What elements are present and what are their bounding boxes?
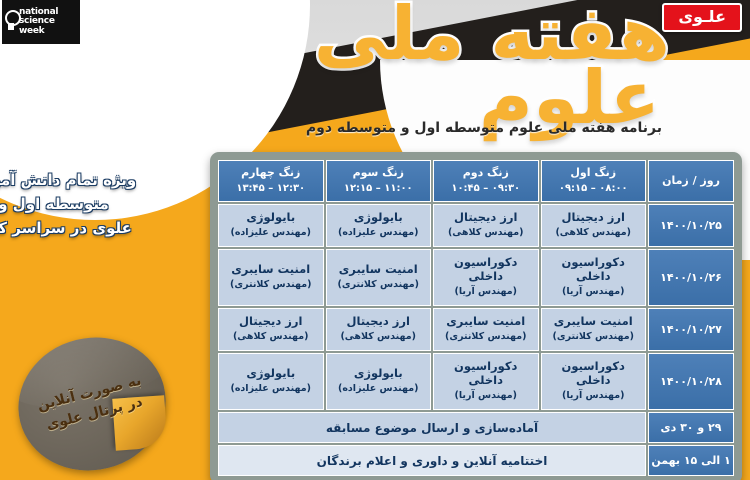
logo-line-2: science [19,16,55,26]
session-cell: بایولوژی (مهندس علیزاده) [326,353,432,410]
session-cell: ارز دیجیتال (مهندس کلاهی) [541,204,647,247]
session-cell: امنیت سایبری (مهندس کلانتری) [541,308,647,351]
lightbulb-icon [4,7,19,37]
table-header-row: روز / زمان زنگ اول ۰۸:۰۰ – ۰۹:۱۵ زنگ دوم… [218,160,734,202]
session-cell: دکوراسیون داخلی (مهندس آریا) [433,249,539,306]
session-cell: امنیت سایبری (مهندس کلانتری) [218,249,324,306]
table-row: ۱۴۰۰/۱۰/۲۸ دکوراسیون داخلی (مهندس آریا) … [218,353,734,410]
footer-row-text: اختتامیه آنلاین و داوری و اعلام برندگان [218,445,646,476]
schedule-table: روز / زمان زنگ اول ۰۸:۰۰ – ۰۹:۱۵ زنگ دوم… [216,158,736,478]
poster-canvas: national science week علـوی هفته ملی علو… [0,0,750,480]
audience-line-1: ویژه تمام دانش آموزان [0,168,165,192]
row-date: ۱۴۰۰/۱۰/۲۵ [648,204,734,247]
header-period-4: زنگ چهارم ۱۲:۳۰ – ۱۳:۴۵ [218,160,324,202]
session-cell: دکوراسیون داخلی (مهندس آریا) [433,353,539,410]
header-period-3: زنگ سوم ۱۱:۰۰ – ۱۲:۱۵ [326,160,432,202]
audience-line-3: علوی در سراسر کشور [0,216,165,240]
footer-row-date: ۱ الی ۱۵ بهمن [648,445,734,476]
schedule-panel: روز / زمان زنگ اول ۰۸:۰۰ – ۰۹:۱۵ زنگ دوم… [210,152,742,480]
session-cell: بایولوژی (مهندس علیزاده) [218,353,324,410]
national-science-week-logo: national science week [2,0,80,44]
logo-line-3: week [19,26,44,36]
audience-line-2: متوسطه اول و دوم [0,192,165,216]
logo-wordmark: national science week [19,8,58,37]
subtitle: برنامه هفته ملی علوم متوسطه اول و متوسطه… [306,120,662,136]
header-day-time: روز / زمان [648,160,734,202]
session-cell: امنیت سایبری (مهندس کلانتری) [326,249,432,306]
session-cell: دکوراسیون داخلی (مهندس آریا) [541,249,647,306]
row-date: ۱۴۰۰/۱۰/۲۸ [648,353,734,410]
table-footer-row: ۱ الی ۱۵ بهمن اختتامیه آنلاین و داوری و … [218,445,734,476]
session-cell: بایولوژی (مهندس علیزاده) [218,204,324,247]
session-cell: دکوراسیون داخلی (مهندس آریا) [541,353,647,410]
session-cell: امنیت سایبری (مهندس کلانتری) [433,308,539,351]
session-cell: ارز دیجیتال (مهندس کلاهی) [326,308,432,351]
session-cell: ارز دیجیتال (مهندس کلاهی) [433,204,539,247]
alavi-badge: علـوی [662,3,742,32]
header-period-2: زنگ دوم ۰۹:۳۰ – ۱۰:۴۵ [433,160,539,202]
header-period-1: زنگ اول ۰۸:۰۰ – ۰۹:۱۵ [541,160,647,202]
session-cell: ارز دیجیتال (مهندس کلاهی) [218,308,324,351]
page-title: هفته ملی علوم [314,2,670,130]
audience-note: ویژه تمام دانش آموزان متوسطه اول و دوم ع… [0,168,165,240]
row-date: ۱۴۰۰/۱۰/۲۷ [648,308,734,351]
table-row: ۱۴۰۰/۱۰/۲۷ امنیت سایبری (مهندس کلانتری) … [218,308,734,351]
table-row: ۱۴۰۰/۱۰/۲۶ دکوراسیون داخلی (مهندس آریا) … [218,249,734,306]
logo-line-1: national [19,7,58,17]
footer-row-text: آماده‌سازی و ارسال موضوع مسابقه [218,412,646,443]
table-row: ۱۴۰۰/۱۰/۲۵ ارز دیجیتال (مهندس کلاهی) ارز… [218,204,734,247]
schedule-table-head: روز / زمان زنگ اول ۰۸:۰۰ – ۰۹:۱۵ زنگ دوم… [218,160,734,202]
table-footer-row: ۲۹ و ۳۰ دی آماده‌سازی و ارسال موضوع مساب… [218,412,734,443]
footer-row-date: ۲۹ و ۳۰ دی [648,412,734,443]
session-cell: بایولوژی (مهندس علیزاده) [326,204,432,247]
row-date: ۱۴۰۰/۱۰/۲۶ [648,249,734,306]
schedule-table-body: ۱۴۰۰/۱۰/۲۵ ارز دیجیتال (مهندس کلاهی) ارز… [218,204,734,476]
